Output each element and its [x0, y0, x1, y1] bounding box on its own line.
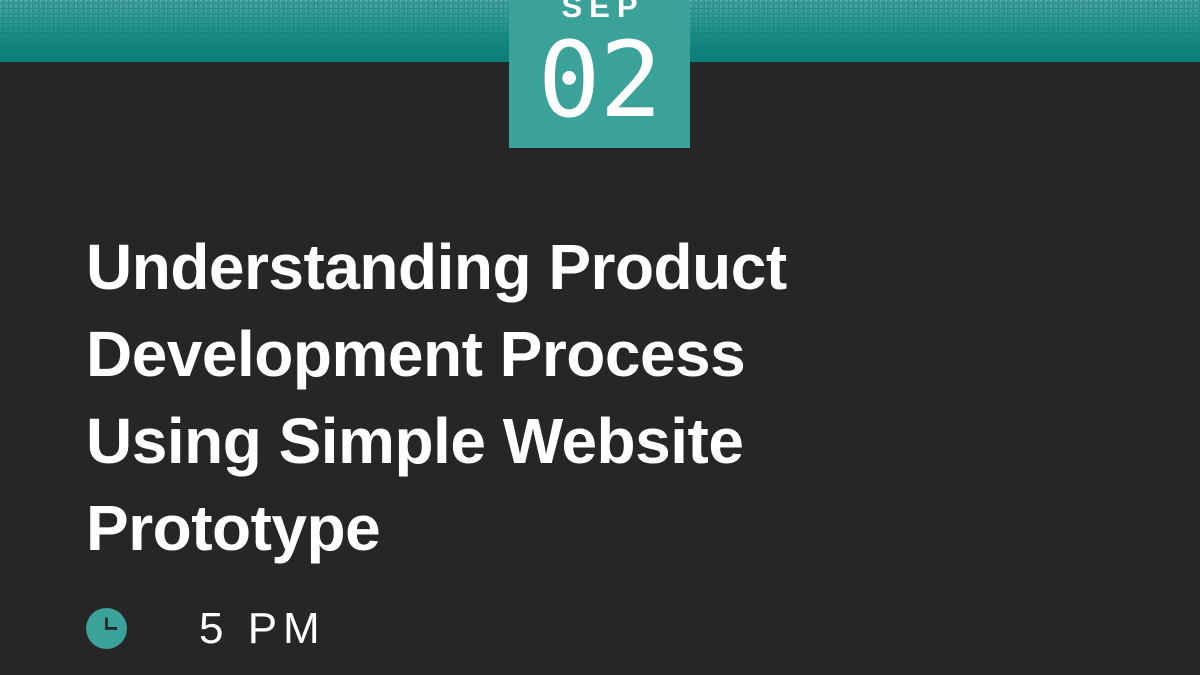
event-card: SEP 02 Understanding Product Development… — [0, 0, 1200, 675]
event-content: Understanding Product Development Proces… — [86, 224, 1086, 572]
event-time-row: 5 PM — [86, 608, 326, 649]
date-badge: SEP 02 — [509, 0, 690, 148]
event-time-label: 5 PM — [199, 608, 326, 649]
clock-icon — [86, 608, 127, 649]
event-title: Understanding Product Development Proces… — [86, 224, 816, 572]
date-badge-day: 02 — [538, 28, 661, 132]
